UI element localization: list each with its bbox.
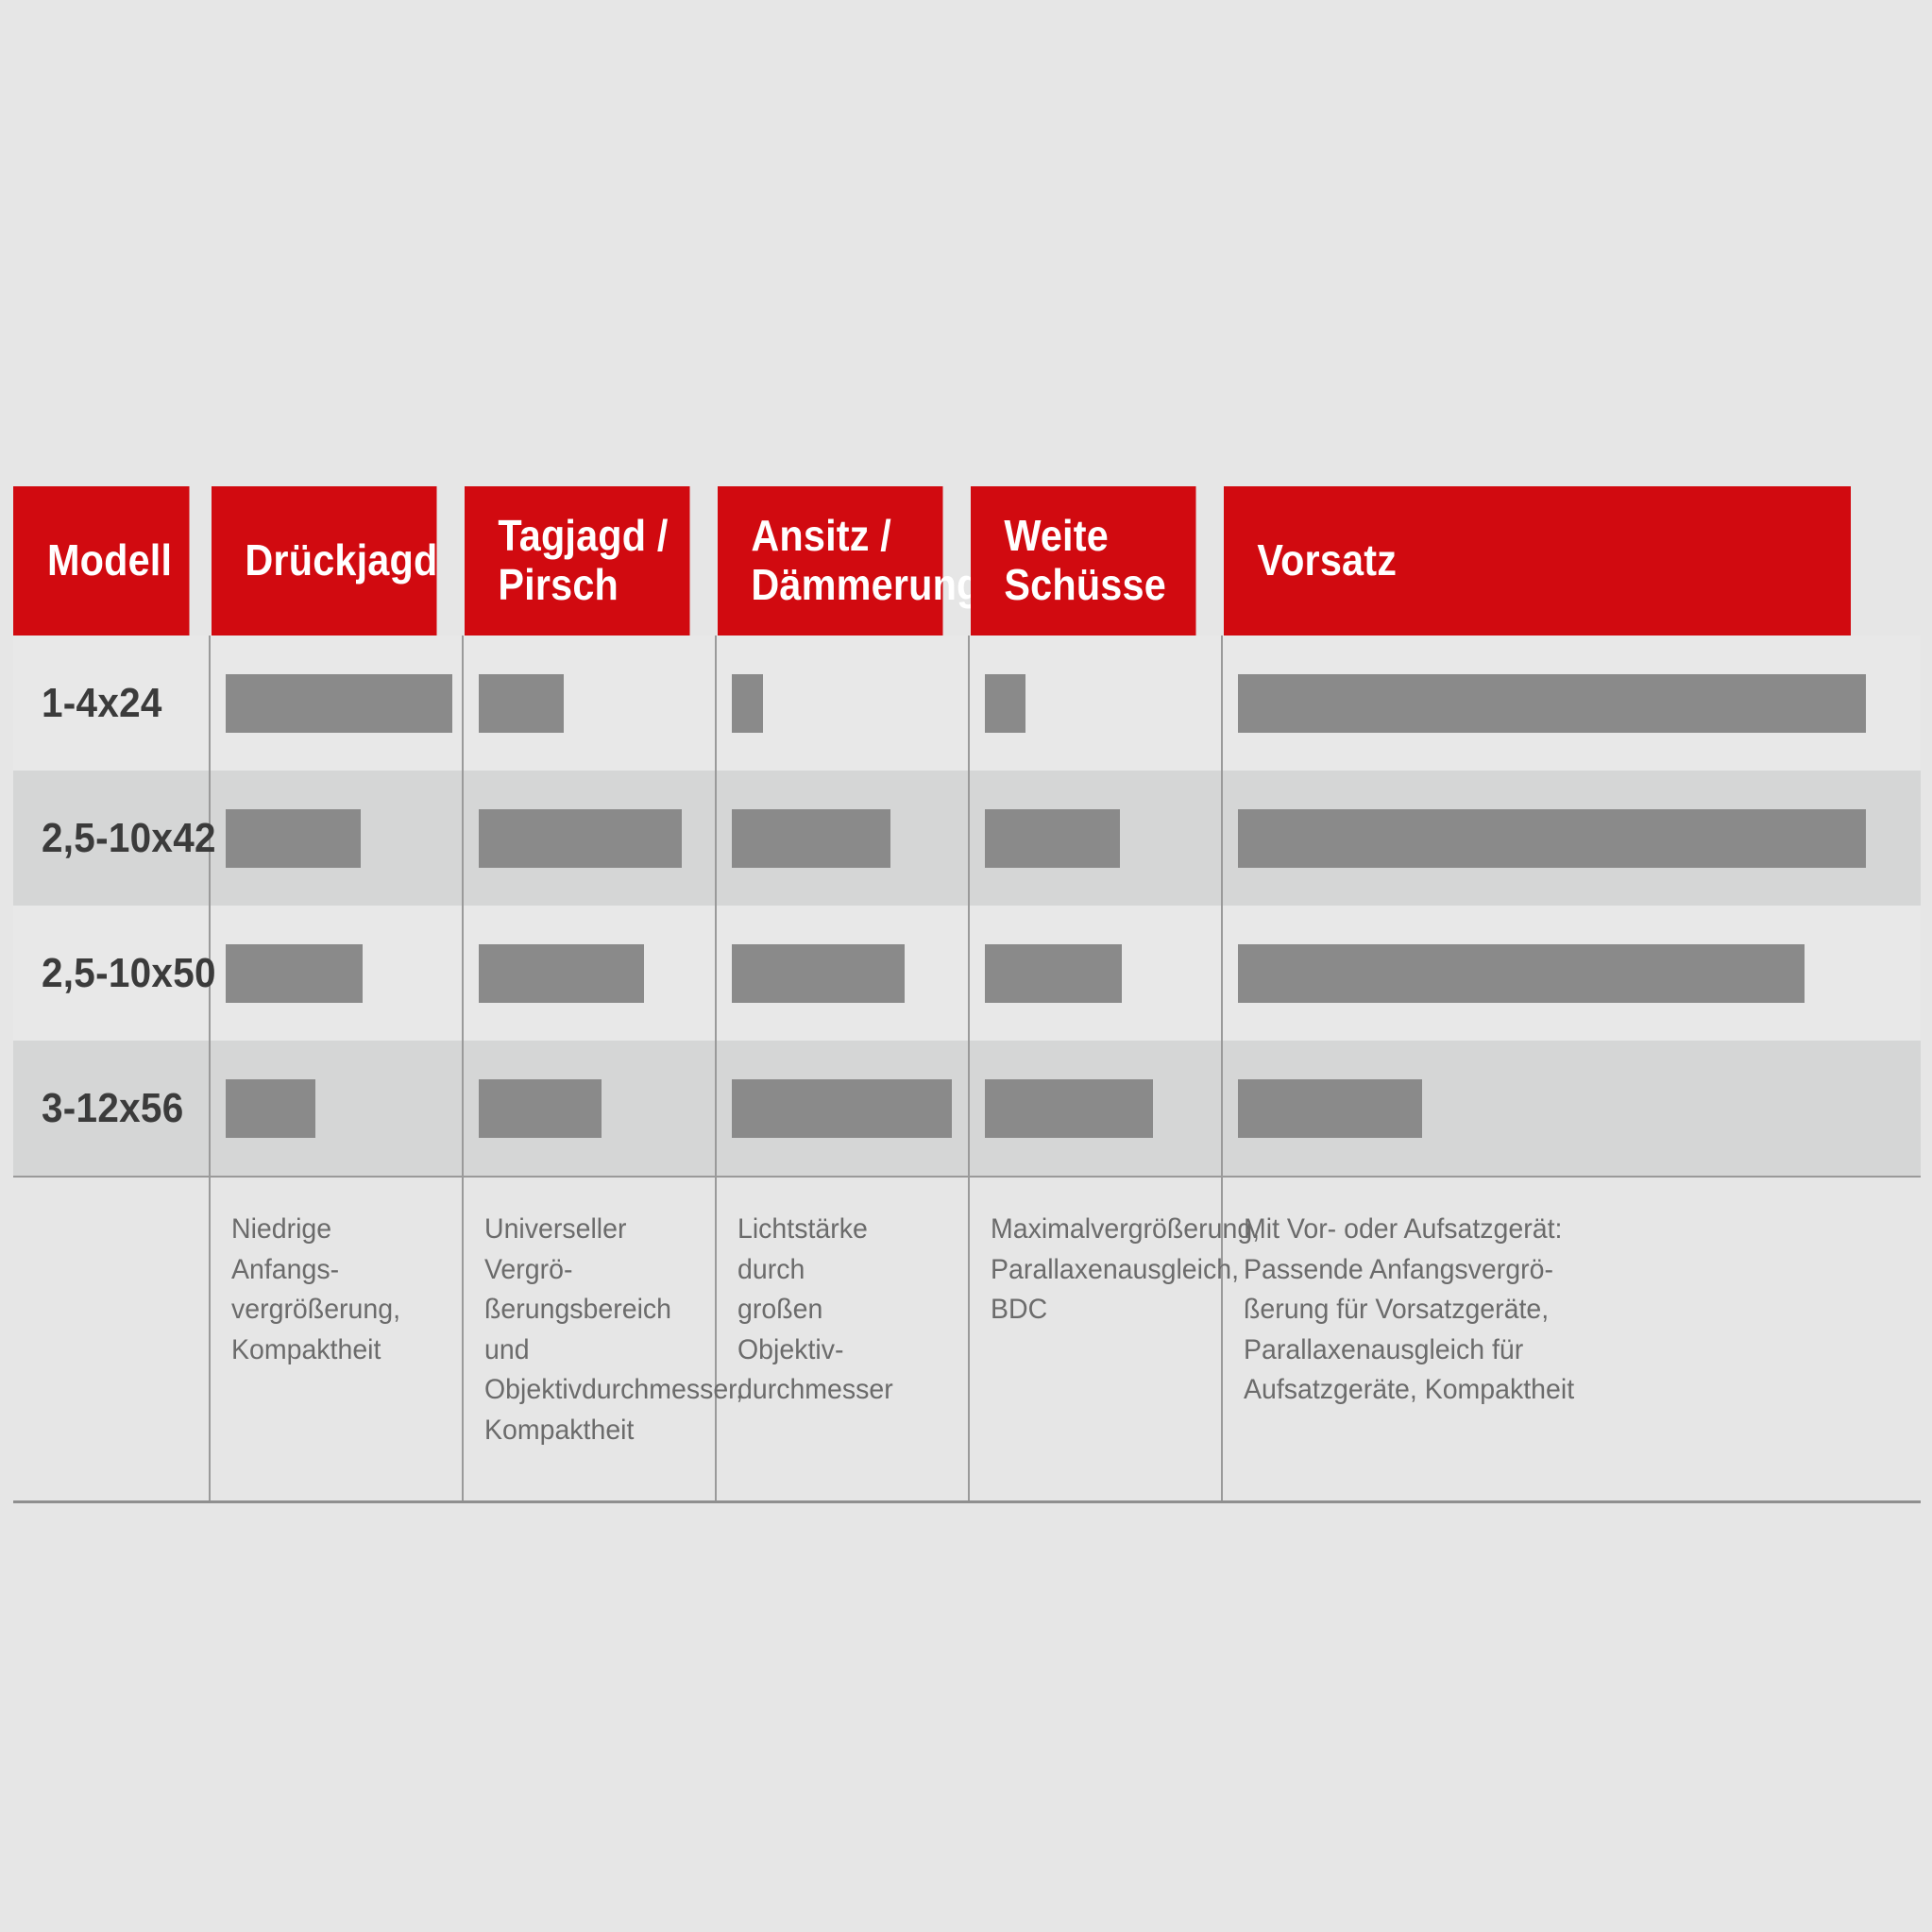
- cell-bar-tagjagd: [463, 906, 716, 1041]
- header-row: Modell Drückjagd Tagjagd / Pirsch Ansitz…: [13, 486, 1921, 636]
- page-root: Modell Drückjagd Tagjagd / Pirsch Ansitz…: [0, 0, 1932, 1932]
- cell-bar-vorsatz: [1222, 906, 1921, 1041]
- bar-holder: [717, 1079, 968, 1138]
- model-label: 1-4x24: [42, 680, 162, 727]
- cell-bar-ansitz: [716, 1041, 969, 1177]
- table-body: 1-4x24: [13, 636, 1921, 1502]
- rating-bar: [479, 809, 682, 868]
- note-cell-drueckjagd: Niedrige Anfangs- vergrößerung, Kompakth…: [210, 1177, 463, 1502]
- header-line-2: Dämmerung: [751, 561, 942, 610]
- note-text: Universeller Vergrö- ßerungsbereich und …: [484, 1210, 680, 1451]
- rating-bar: [985, 1079, 1153, 1138]
- cell-bar-drueckjagd: [210, 1041, 463, 1177]
- note-cell-weite: Maximalvergrößerung, Parallaxenausgleich…: [969, 1177, 1222, 1502]
- cell-bar-vorsatz: [1222, 636, 1921, 771]
- cell-bar-drueckjagd: [210, 906, 463, 1041]
- note-cell-tagjagd: Universeller Vergrö- ßerungsbereich und …: [463, 1177, 716, 1502]
- cell-bar-tagjagd: [463, 771, 716, 906]
- rating-bar: [1238, 1079, 1422, 1138]
- rating-bar: [479, 1079, 602, 1138]
- rating-bar: [985, 944, 1122, 1003]
- note-text: Niedrige Anfangs- vergrößerung, Kompakth…: [231, 1210, 427, 1370]
- rating-bar: [985, 674, 1025, 733]
- bar-holder: [1223, 1079, 1921, 1138]
- table-row: 3-12x56: [13, 1041, 1921, 1177]
- bar-holder: [1223, 674, 1921, 733]
- bar-holder: [970, 1079, 1221, 1138]
- model-comparison-table: Modell Drückjagd Tagjagd / Pirsch Ansitz…: [13, 486, 1921, 1503]
- bar-holder: [970, 809, 1221, 868]
- bar-holder: [211, 944, 462, 1003]
- bar-holder: [464, 809, 715, 868]
- model-label: 2,5-10x42: [42, 815, 216, 862]
- bar-holder: [1223, 944, 1921, 1003]
- cell-bar-weite: [969, 636, 1222, 771]
- rating-bar: [1238, 809, 1866, 868]
- cell-bar-weite: [969, 906, 1222, 1041]
- rating-bar: [226, 1079, 315, 1138]
- cell-bar-vorsatz: [1222, 1041, 1921, 1177]
- note-cell-ansitz: Lichtstärke durch großen Objektiv- durch…: [716, 1177, 969, 1502]
- bar-holder: [970, 674, 1221, 733]
- table-header: Modell Drückjagd Tagjagd / Pirsch Ansitz…: [13, 486, 1921, 636]
- bar-holder: [464, 1079, 715, 1138]
- note-cell-empty: [13, 1177, 210, 1502]
- cell-bar-ansitz: [716, 636, 969, 771]
- cell-bar-tagjagd: [463, 636, 716, 771]
- cell-bar-ansitz: [716, 771, 969, 906]
- note-text: Mit Vor- oder Aufsatzgerät: Passende Anf…: [1244, 1210, 1863, 1411]
- cell-model-name: 1-4x24: [13, 636, 210, 771]
- table-row: 2,5-10x50: [13, 906, 1921, 1041]
- note-text: Maximalvergrößerung, Parallaxenausgleich…: [991, 1210, 1186, 1330]
- rating-bar: [732, 1079, 952, 1138]
- rating-bar: [226, 674, 452, 733]
- header-line-1: Weite: [1004, 512, 1195, 561]
- bar-holder: [464, 944, 715, 1003]
- column-header-ansitz-daemmerung: Ansitz / Dämmerung: [716, 486, 943, 636]
- cell-bar-drueckjagd: [210, 636, 463, 771]
- bar-holder: [464, 674, 715, 733]
- cell-model-name: 2,5-10x50: [13, 906, 210, 1041]
- note-cell-vorsatz: Mit Vor- oder Aufsatzgerät: Passende Anf…: [1222, 1177, 1921, 1502]
- table-footnote-row: Niedrige Anfangs- vergrößerung, Kompakth…: [13, 1177, 1921, 1502]
- column-header-drueckjagd: Drückjagd: [210, 486, 437, 636]
- column-header-vorsatz: Vorsatz: [1222, 486, 1851, 636]
- column-header-weite-schuesse: Weite Schüsse: [969, 486, 1196, 636]
- header-line-2: Pirsch: [498, 561, 689, 610]
- rating-bar: [226, 809, 361, 868]
- rating-bar: [985, 809, 1120, 868]
- comparison-table-wrapper: Modell Drückjagd Tagjagd / Pirsch Ansitz…: [13, 486, 1921, 1503]
- cell-bar-ansitz: [716, 906, 969, 1041]
- cell-bar-weite: [969, 1041, 1222, 1177]
- rating-bar: [1238, 674, 1866, 733]
- header-line-1: Vorsatz: [1257, 536, 1851, 585]
- note-text: Lichtstärke durch großen Objektiv- durch…: [737, 1210, 933, 1411]
- header-line-2: Schüsse: [1004, 561, 1195, 610]
- model-label: 2,5-10x50: [42, 950, 216, 997]
- bar-holder: [717, 674, 968, 733]
- cell-bar-vorsatz: [1222, 771, 1921, 906]
- bar-holder: [717, 809, 968, 868]
- header-line-1: Tagjagd /: [498, 512, 689, 561]
- column-header-modell: Modell: [13, 486, 190, 636]
- bar-holder: [970, 944, 1221, 1003]
- column-header-tagjagd-pirsch: Tagjagd / Pirsch: [463, 486, 690, 636]
- bar-holder: [211, 809, 462, 868]
- bar-holder: [211, 1079, 462, 1138]
- model-label: 3-12x56: [42, 1085, 183, 1132]
- bar-holder: [717, 944, 968, 1003]
- header-line-1: Ansitz /: [751, 512, 942, 561]
- bar-holder: [211, 674, 462, 733]
- cell-bar-drueckjagd: [210, 771, 463, 906]
- rating-bar: [732, 944, 905, 1003]
- cell-model-name: 2,5-10x42: [13, 771, 210, 906]
- cell-model-name: 3-12x56: [13, 1041, 210, 1177]
- rating-bar: [732, 674, 763, 733]
- table-row: 1-4x24: [13, 636, 1921, 771]
- bar-holder: [1223, 809, 1921, 868]
- rating-bar: [479, 674, 564, 733]
- rating-bar: [226, 944, 363, 1003]
- rating-bar: [1238, 944, 1805, 1003]
- rating-bar: [732, 809, 890, 868]
- table-row: 2,5-10x42: [13, 771, 1921, 906]
- cell-bar-tagjagd: [463, 1041, 716, 1177]
- header-line-1: Modell: [47, 536, 189, 585]
- header-line-1: Drückjagd: [245, 536, 435, 585]
- cell-bar-weite: [969, 771, 1222, 906]
- rating-bar: [479, 944, 644, 1003]
